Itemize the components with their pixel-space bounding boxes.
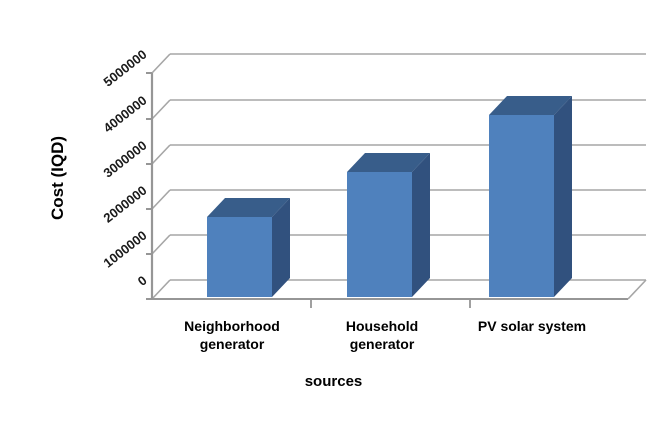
depth-line-4000000: [152, 100, 170, 119]
x-category-line-1: PV solar system: [452, 318, 612, 336]
x-axis-ticks: [311, 299, 470, 308]
x-axis-title: sources: [0, 373, 667, 390]
bar-front-face: [489, 115, 554, 297]
x-category-line-1: Neighborhood: [152, 318, 312, 336]
depth-line-2000000: [152, 190, 170, 209]
x-category-label-household-generator: Household generator: [302, 318, 462, 353]
x-category-line-2: generator: [302, 336, 462, 354]
bar-pv-solar-system[interactable]: [489, 96, 572, 297]
x-category-line-1: Household: [302, 318, 462, 336]
bar-front-face: [347, 172, 412, 297]
depth-line-1000000: [152, 235, 170, 254]
chart-container: Cost (IQD) 5000000 4000000 3000000 20000…: [0, 0, 667, 431]
depth-line-3000000: [152, 145, 170, 164]
bar-household-generator[interactable]: [347, 153, 430, 297]
x-category-label-pv-solar-system: PV solar system: [452, 318, 612, 336]
depth-line-5000000: [152, 54, 170, 73]
x-category-line-2: generator: [152, 336, 312, 354]
bar-side-face: [554, 96, 572, 297]
depth-line-0: [152, 280, 170, 299]
floor-right-edge: [628, 280, 646, 299]
x-category-label-neighborhood-generator: Neighborhood generator: [152, 318, 312, 353]
bar-neighborhood-generator[interactable]: [207, 198, 290, 297]
bar-side-face: [412, 153, 430, 297]
gridlines-depth: [152, 54, 170, 299]
bar-front-face: [207, 217, 272, 297]
